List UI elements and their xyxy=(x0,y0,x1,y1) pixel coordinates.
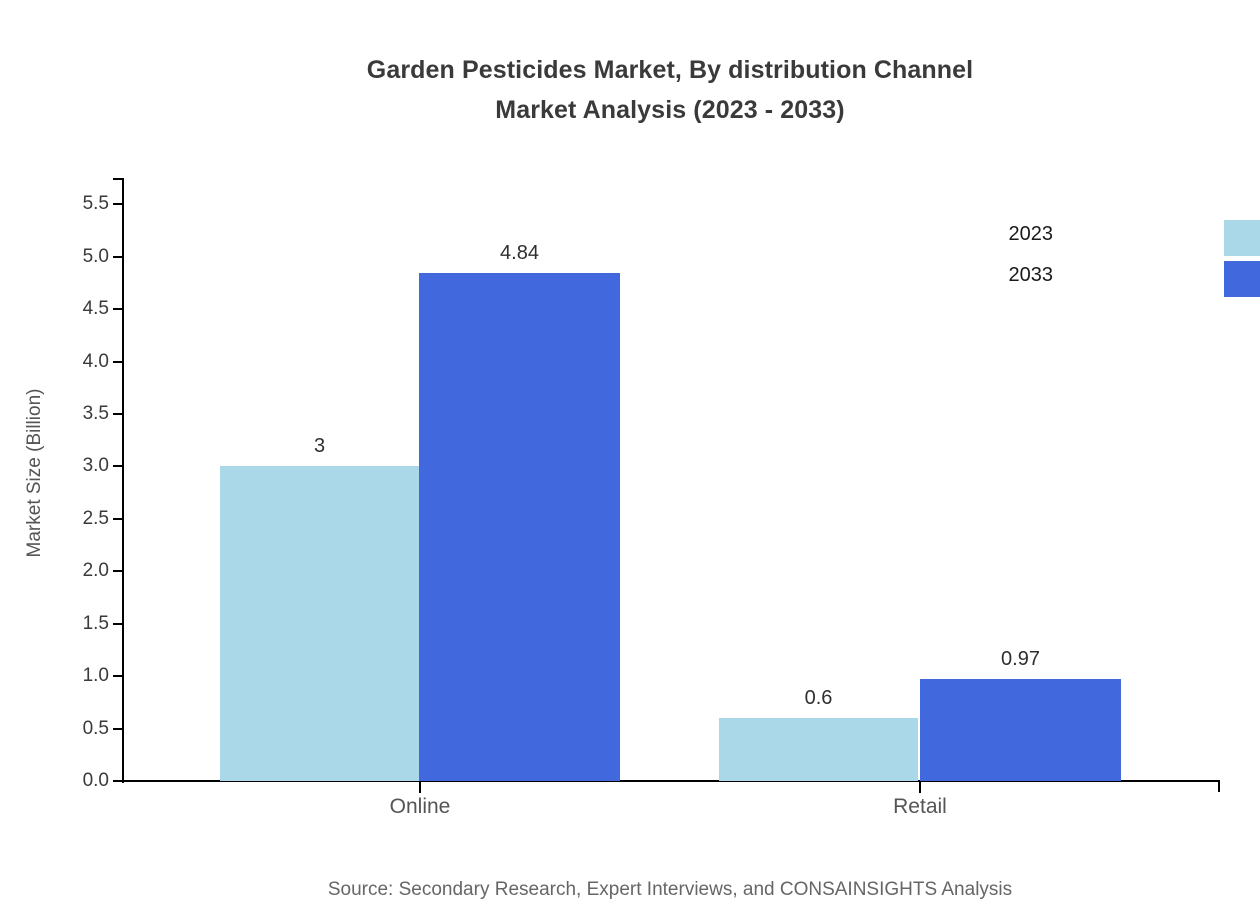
y-tick-label-2.5: 2.5 xyxy=(83,509,109,528)
y-tick-4.0 xyxy=(113,361,123,363)
y-tick-1.0 xyxy=(113,675,123,677)
y-tick-label-2.0: 2.0 xyxy=(83,561,109,580)
legend-swatch-2023 xyxy=(1224,220,1260,256)
y-tick-label-1.0: 1.0 xyxy=(83,666,109,685)
y-tick-label-0.0: 0.0 xyxy=(83,771,109,790)
y-tick-4.5 xyxy=(113,308,123,310)
y-tick-5.5 xyxy=(113,203,123,205)
y-tick-2.5 xyxy=(113,518,123,520)
y-tick-5.0 xyxy=(113,256,123,258)
legend-label-2033: 2033 xyxy=(1009,264,1054,286)
y-tick-3.0 xyxy=(113,465,123,467)
y-tick-2.0 xyxy=(113,570,123,572)
y-tick-label-5.0: 5.0 xyxy=(83,247,109,266)
y-axis-line xyxy=(122,178,124,783)
y-tick-label-1.5: 1.5 xyxy=(83,614,109,633)
x-category-label-retail: Retail xyxy=(770,795,1070,819)
y-tick-0.5 xyxy=(113,728,123,730)
legend-swatch-2033 xyxy=(1224,261,1260,297)
x-tick-online xyxy=(419,782,421,793)
chart-title-line-1: Garden Pesticides Market, By distributio… xyxy=(0,50,1260,90)
x-axis-right-tick xyxy=(1218,781,1220,792)
y-axis-title: Market Size (Billion) xyxy=(24,163,46,783)
chart-title: Garden Pesticides Market, By distributio… xyxy=(0,50,1260,130)
legend-label-2023: 2023 xyxy=(1009,223,1054,245)
bar-value-label-online-2033: 4.84 xyxy=(419,243,620,263)
bar-value-label-retail-2033: 0.97 xyxy=(920,649,1121,669)
y-tick-label-5.5: 5.5 xyxy=(83,194,109,213)
bar-online-2023[interactable] xyxy=(220,466,419,781)
bar-retail-2023[interactable] xyxy=(719,718,918,781)
bar-value-label-online-2023: 3 xyxy=(220,436,419,456)
chart-title-line-2: Market Analysis (2023 - 2033) xyxy=(0,90,1260,130)
y-axis-top-tick xyxy=(113,178,123,180)
y-tick-label-4.0: 4.0 xyxy=(83,352,109,371)
bar-value-label-retail-2023: 0.6 xyxy=(719,688,918,708)
bar-retail-2033[interactable] xyxy=(920,679,1121,781)
x-tick-retail xyxy=(919,782,921,793)
source-note: Source: Secondary Research, Expert Inter… xyxy=(0,878,1260,902)
y-tick-3.5 xyxy=(113,413,123,415)
y-tick-label-0.5: 0.5 xyxy=(83,719,109,738)
y-tick-label-4.5: 4.5 xyxy=(83,299,109,318)
y-tick-0.0 xyxy=(113,780,123,782)
chart-canvas: Garden Pesticides Market, By distributio… xyxy=(0,0,1260,920)
y-tick-label-3.5: 3.5 xyxy=(83,404,109,423)
y-tick-label-3.0: 3.0 xyxy=(83,456,109,475)
x-category-label-online: Online xyxy=(270,795,570,819)
y-tick-1.5 xyxy=(113,623,123,625)
bar-online-2033[interactable] xyxy=(419,273,620,781)
